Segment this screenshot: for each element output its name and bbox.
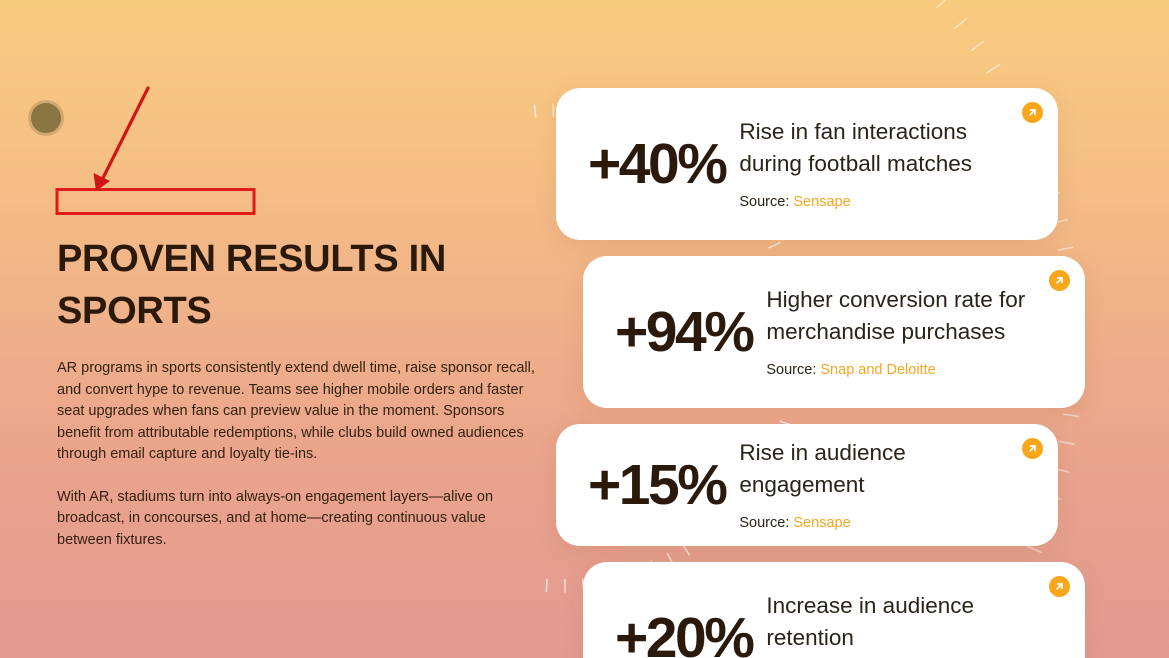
stat-label: Higher conversion rate for merchandise p… bbox=[766, 284, 1037, 348]
stat-label: Rise in fan interactions during football… bbox=[739, 116, 1010, 180]
cursor-dot-icon bbox=[31, 103, 61, 133]
stat-source-link[interactable]: Sensape bbox=[793, 194, 850, 210]
stat-card[interactable]: +94% Higher conversion rate for merchand… bbox=[583, 256, 1085, 408]
stat-card-list: +40% Rise in fan interactions during foo… bbox=[0, 0, 1169, 658]
stat-label: Rise in audience engagement bbox=[739, 437, 1010, 501]
stat-label: Increase in audience retention bbox=[766, 590, 1037, 654]
arrow-up-right-icon[interactable] bbox=[1022, 102, 1043, 123]
stat-value: +94% bbox=[583, 299, 766, 365]
stat-body: Rise in fan interactions during football… bbox=[739, 116, 1058, 212]
arrow-up-right-icon[interactable] bbox=[1049, 576, 1070, 597]
stat-source-prefix: Source: bbox=[766, 362, 816, 378]
stat-value: +40% bbox=[556, 131, 739, 197]
stat-card[interactable]: +20% Increase in audience retention Sour… bbox=[583, 562, 1085, 658]
arrow-up-right-icon[interactable] bbox=[1022, 438, 1043, 459]
stat-body: Higher conversion rate for merchandise p… bbox=[766, 284, 1085, 380]
stat-source: Source: Sensape bbox=[739, 192, 1010, 212]
stat-source: Source: Snap and Deloitte bbox=[766, 360, 1037, 380]
stat-source: Source: Sensape bbox=[739, 513, 1010, 533]
stat-source-prefix: Source: bbox=[739, 515, 789, 531]
stat-source-link[interactable]: Sensape bbox=[793, 515, 850, 531]
stat-source-link[interactable]: Snap and Deloitte bbox=[820, 362, 935, 378]
arrow-up-right-icon[interactable] bbox=[1049, 270, 1070, 291]
stat-value: +15% bbox=[556, 452, 739, 518]
stat-body: Increase in audience retention Source: S… bbox=[766, 590, 1085, 658]
stat-card[interactable]: +15% Rise in audience engagement Source:… bbox=[556, 424, 1058, 546]
stat-source-prefix: Source: bbox=[739, 194, 789, 210]
stat-card[interactable]: +40% Rise in fan interactions during foo… bbox=[556, 88, 1058, 240]
stat-body: Rise in audience engagement Source: Sens… bbox=[739, 437, 1058, 533]
stat-value: +20% bbox=[583, 605, 766, 658]
